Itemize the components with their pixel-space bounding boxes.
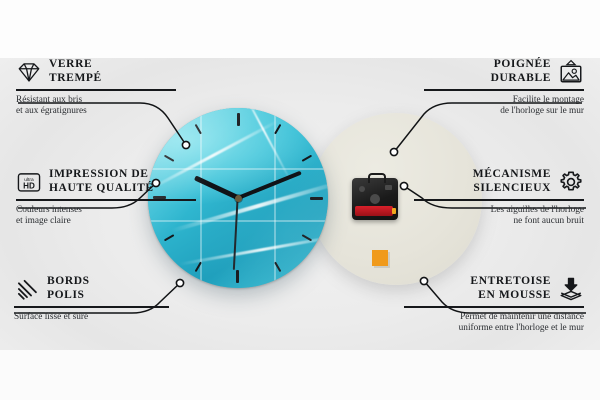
background-bottom-band [0, 350, 600, 400]
feature-desc-line1: Permet de maintenir une distance [404, 312, 584, 323]
diamond-icon [16, 59, 42, 85]
feature-desc-line2: de l'horloge sur le mur [424, 106, 584, 117]
divider [404, 306, 584, 308]
divider [16, 199, 196, 201]
mechanism-detail-dot [385, 185, 392, 190]
feature-title: ENTRETOISE EN MOUSSE [470, 275, 551, 302]
ultra-hd-icon: ultra HD [16, 169, 42, 195]
feature-header: POIGNÉE DURABLE [424, 58, 584, 85]
mechanism-detail-dot [359, 186, 365, 192]
ultra-hd-icon-big-label: HD [23, 181, 35, 190]
infographic-canvas: VERRE TREMPÉ Résistant aux bris et aux é… [0, 0, 600, 400]
feature-desc-line2: ne font aucun bruit [414, 216, 584, 227]
foam-spacer-icon [558, 276, 584, 302]
feature-header: BORDS POLIS [14, 275, 169, 302]
feature-title: IMPRESSION DE HAUTE QUALITÉ [49, 168, 154, 195]
feature-entretoise-en-mousse: ENTRETOISE EN MOUSSE Permet de maintenir… [404, 275, 584, 334]
feature-title: VERRE TREMPÉ [49, 58, 102, 85]
feature-title: POIGNÉE DURABLE [491, 58, 551, 85]
feature-desc-line2: et aux égratignures [16, 106, 176, 117]
feature-bords-polis: BORDS POLIS Surface lisse et sûre [14, 275, 169, 323]
divider [16, 89, 176, 91]
divider [14, 306, 169, 308]
feature-header: MÉCANISME SILENCIEUX [414, 168, 584, 195]
feature-desc-line1: Les aiguilles de l'horloge [414, 205, 584, 216]
feature-verre-trempe: VERRE TREMPÉ Résistant aux bris et aux é… [16, 58, 176, 117]
feature-desc-line1: Couleurs intenses [16, 205, 196, 216]
feature-title: BORDS POLIS [47, 275, 90, 302]
feature-header: VERRE TREMPÉ [16, 58, 176, 85]
feature-mecanisme-silencieux: MÉCANISME SILENCIEUX Les aiguilles de l'… [414, 168, 584, 227]
feature-desc-line2: uniforme entre l'horloge et le mur [404, 323, 584, 334]
divider [424, 89, 584, 91]
clock-mechanism [352, 178, 398, 220]
divider [414, 199, 584, 201]
feature-poignee-durable: POIGNÉE DURABLE Facilite le montage de l… [424, 58, 584, 117]
feature-desc-line2: et image claire [16, 216, 196, 227]
feature-desc-line1: Facilite le montage [424, 95, 584, 106]
feature-header: ultra HD IMPRESSION DE HAUTE QUALITÉ [16, 168, 196, 195]
feature-desc-line1: Surface lisse et sûre [14, 312, 169, 323]
background-top-band [0, 0, 600, 58]
polished-edges-icon [14, 276, 40, 302]
feature-header: ENTRETOISE EN MOUSSE [404, 275, 584, 302]
mechanism-detail-dot [370, 194, 380, 204]
feature-desc-line1: Résistant aux bris [16, 95, 176, 106]
foam-spacer-sample [372, 250, 388, 266]
mechanism-battery [355, 206, 393, 216]
gear-icon [558, 169, 584, 195]
picture-hanger-icon [558, 59, 584, 85]
mechanism-hanger-tab [368, 173, 386, 183]
feature-impression-haute-qualite: ultra HD IMPRESSION DE HAUTE QUALITÉ Cou… [16, 168, 196, 227]
feature-title: MÉCANISME SILENCIEUX [473, 168, 551, 195]
